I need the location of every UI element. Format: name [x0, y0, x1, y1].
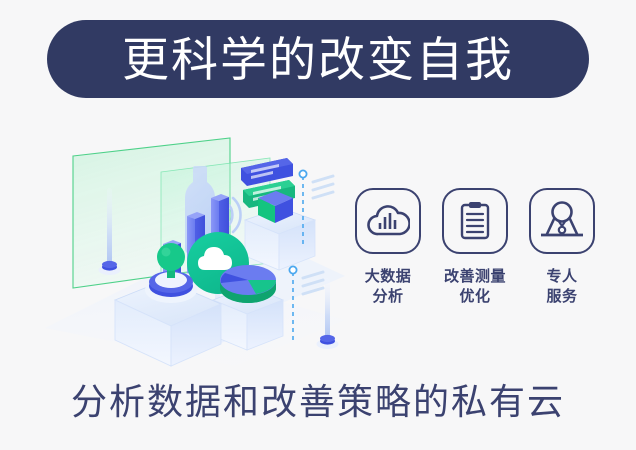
isometric-illustration [45, 128, 345, 368]
page-title: 更科学的改变自我 [122, 36, 514, 83]
service-person-icon [529, 188, 595, 254]
feature-list: 大数据 分析 改善测量 优化 [352, 188, 598, 328]
pie-chart-disc [220, 265, 276, 303]
feature-label-big-data: 大数据 分析 [365, 267, 412, 307]
header-title-pill: 更科学的改变自我 [47, 20, 589, 98]
feature-item-measurement[interactable]: 改善测量 优化 [439, 188, 511, 307]
feature-item-service[interactable]: 专人 服务 [526, 188, 598, 307]
cloud-bar-chart-icon [355, 188, 421, 254]
feature-item-big-data[interactable]: 大数据 分析 [352, 188, 424, 307]
footer-headline: 分析数据和改善策略的私有云 [0, 383, 636, 421]
clipboard-icon [442, 188, 508, 254]
feature-label-measurement: 改善测量 优化 [444, 267, 506, 307]
poster-root: 更科学的改变自我 [0, 0, 636, 450]
feature-label-service: 专人 服务 [546, 267, 577, 307]
